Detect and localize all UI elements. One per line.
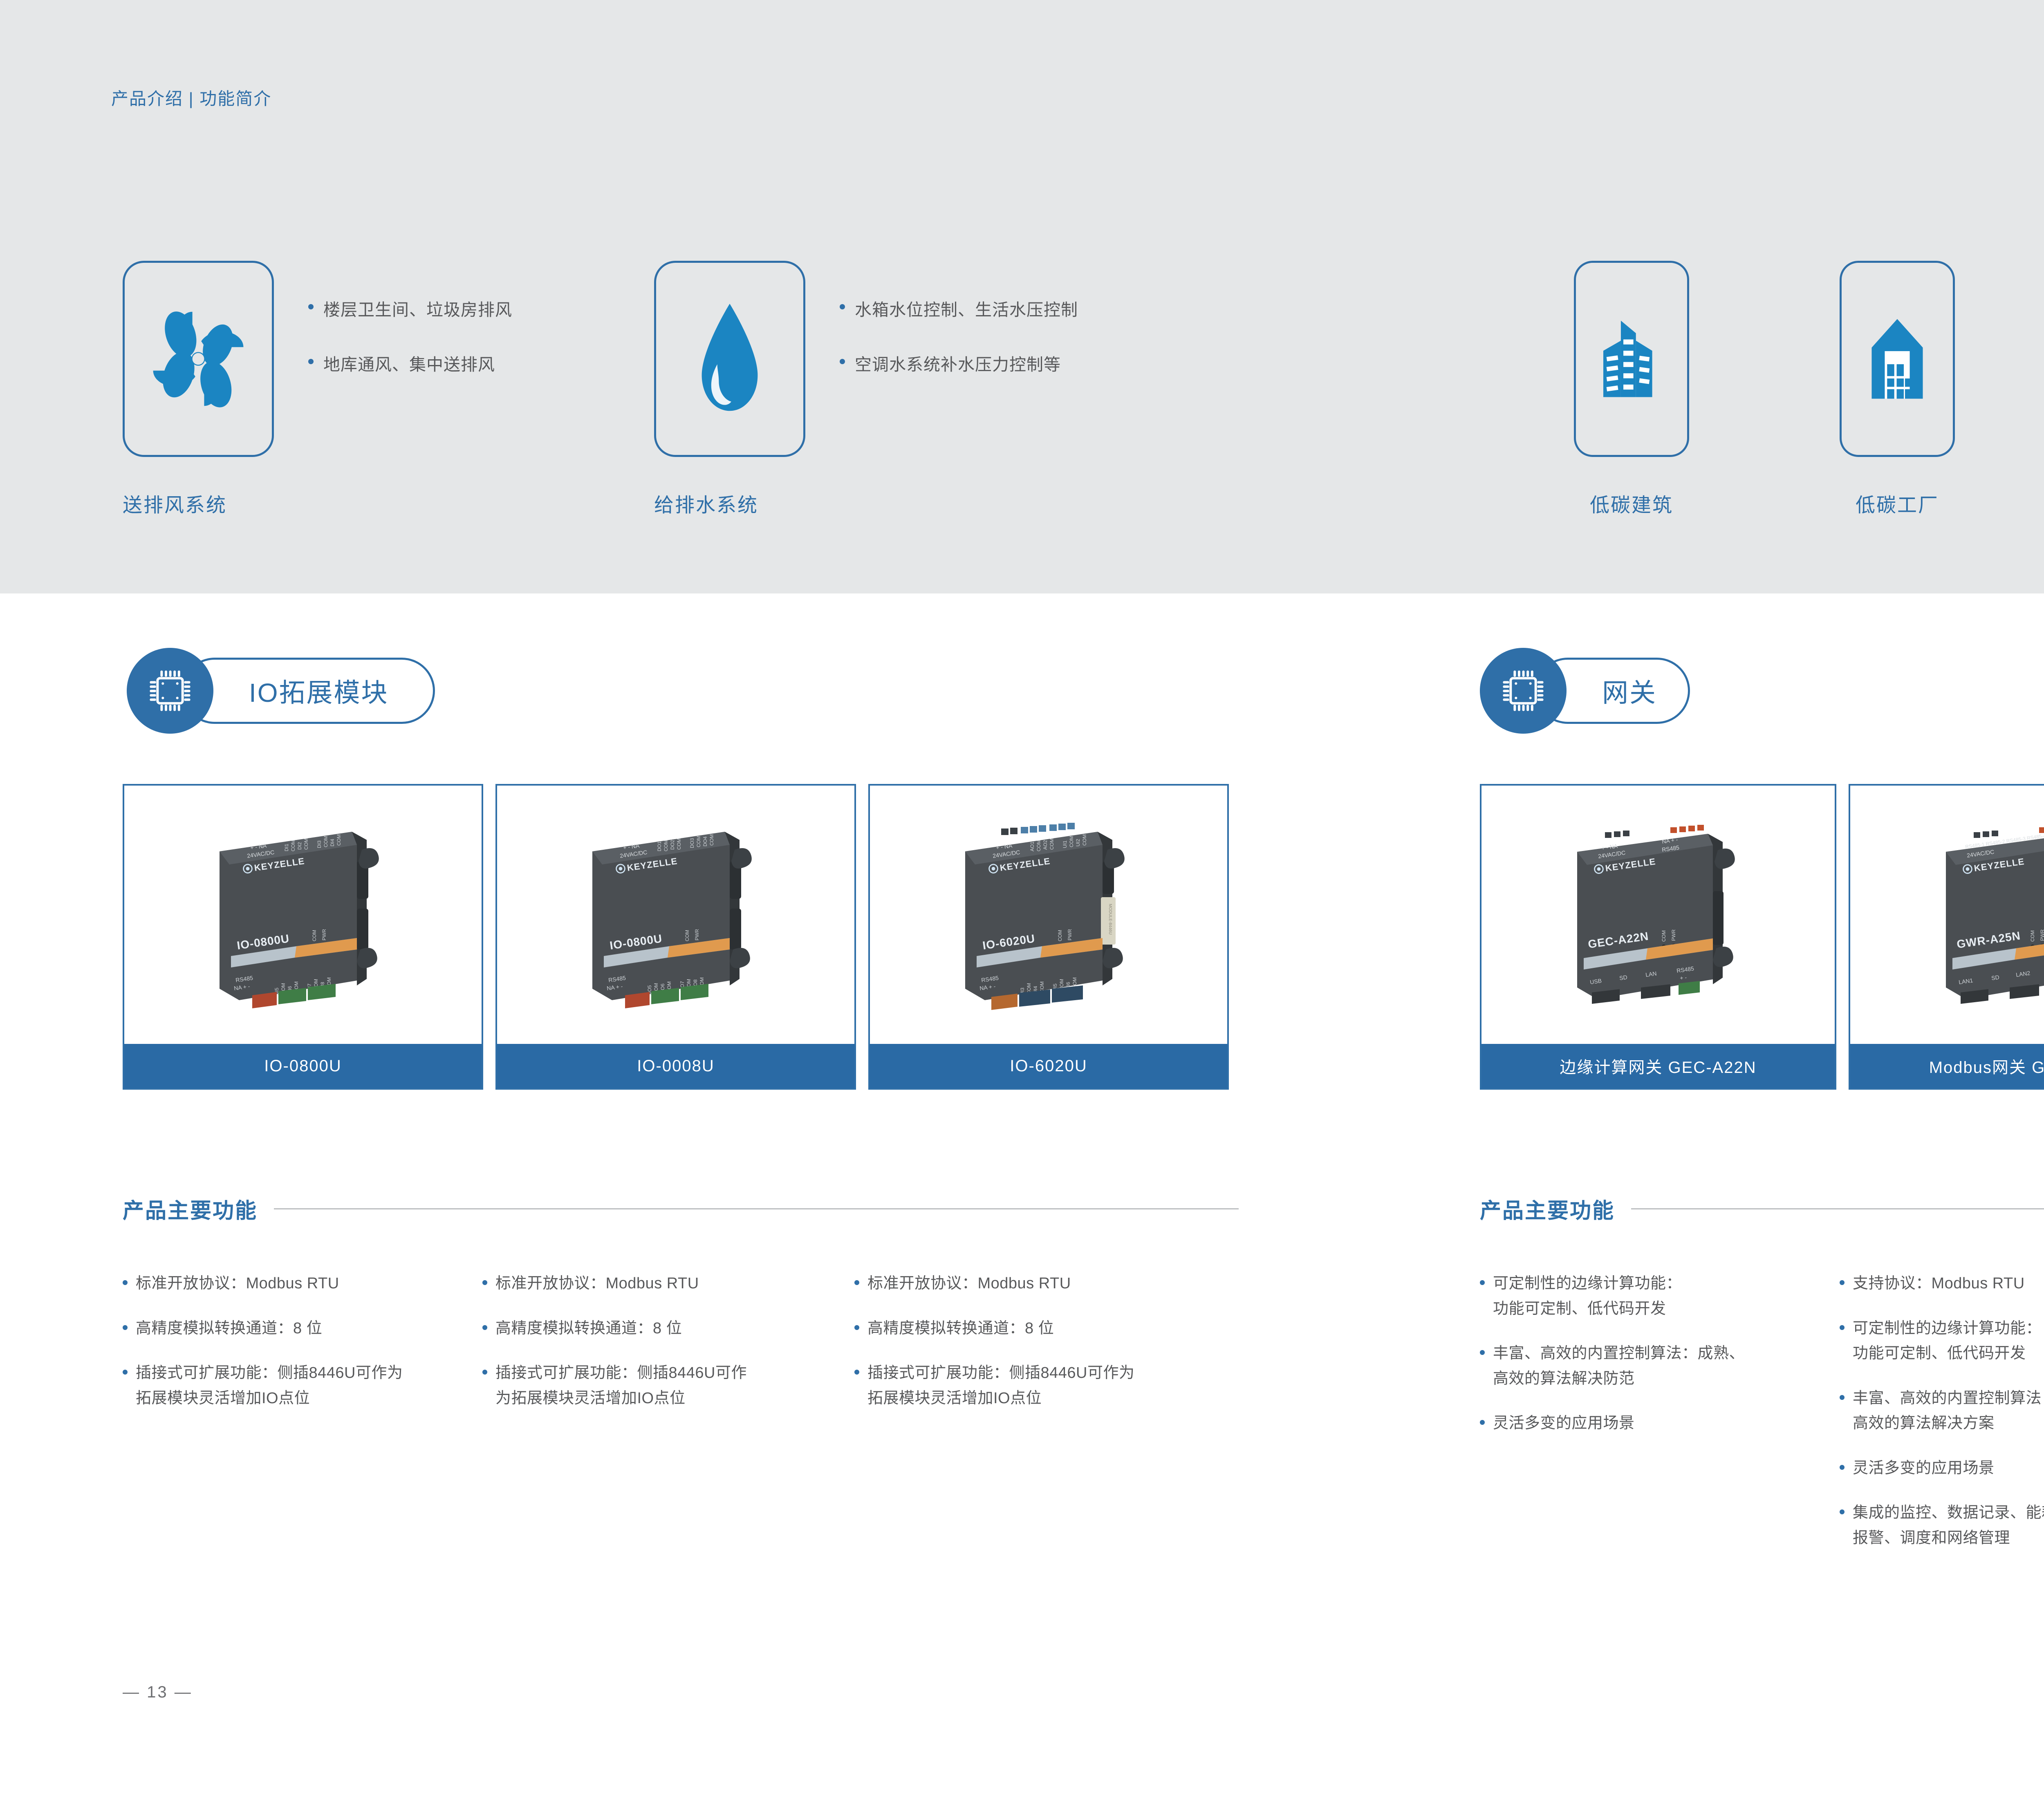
bullet-dot-icon (123, 1325, 128, 1330)
device-illustration: + - NA 24VAC/DC DO1 COM DO2 COM DO3 COM … (569, 819, 782, 1011)
feature-text: 插接式可扩展功能：侧插8446U可作为 拓展模块灵活增加IO点位 (867, 1361, 1134, 1411)
device-illustration: RS485-1 RS485-2 RS485-3 RS485-4 24VAC/DC… (1925, 821, 2044, 1009)
svg-text:COM: COM (696, 836, 702, 847)
feature-item: 丰富、高效的内置控制算法：成熟、 高效的算法解决方案 (1840, 1386, 2044, 1436)
feature-item: 支持协议：Modbus RTU (1840, 1271, 2044, 1296)
bullet-dot-icon (308, 304, 314, 309)
svg-text:UI1: UI1 (1062, 840, 1068, 848)
svg-text:DO3: DO3 (689, 838, 695, 848)
feature-text: 插接式可扩展功能：侧插8446U可作为 拓展模块灵活增加IO点位 (136, 1361, 403, 1411)
feature-text: 高精度模拟转换通道：8 位 (136, 1316, 322, 1341)
product-name: IO-6020U (870, 1044, 1227, 1088)
device-illustration: MODULE-8446U + - NA 24VAC/DC AO1 COM AO2… (942, 819, 1155, 1011)
bullet-dot-icon (1480, 1350, 1485, 1355)
svg-text:PWR: PWR (2040, 929, 2044, 941)
product-name: IO-0800U (124, 1044, 482, 1088)
section-badge-gateway: 网关 (1480, 648, 1741, 734)
section-pill-io: IO拓展模块 (182, 658, 435, 724)
fan-icon-frame (123, 261, 274, 457)
svg-text:COM: COM (1661, 930, 1667, 942)
bullet-text: 水箱水位控制、生活水压控制 (855, 296, 1078, 320)
device-illustration: + - NA 24VAC/DC NA + - RS485 KEYZELLE GE… (1556, 821, 1760, 1009)
feature-text: 丰富、高效的内置控制算法：成熟、 高效的算法解决防范 (1493, 1341, 1745, 1391)
feature-column: 可定制性的边缘计算功能： 功能可定制、低代码开发 丰富、高效的内置控制算法：成熟… (1480, 1271, 1840, 1570)
bullet-item: 地库通风、集中送排风 (308, 351, 512, 375)
svg-text:COM: COM (1036, 840, 1042, 851)
heading-rule (1631, 1208, 2044, 1209)
product-card[interactable]: RS485-1 RS485-2 RS485-3 RS485-4 24VAC/DC… (1849, 784, 2044, 1090)
chip-icon-circle (1480, 648, 1567, 734)
feature-text: 可定制性的边缘计算功能： 功能可定制、低代码开发 (1493, 1271, 1682, 1321)
feature-item: 高精度模拟转换通道：8 位 (854, 1316, 1214, 1341)
svg-text:COM: COM (1069, 836, 1074, 847)
feature-text: 集成的监控、数据记录、能耗计量、 报警、调度和网络管理 (1853, 1500, 2044, 1551)
features-heading-gateway: 产品主要功能 (1480, 1193, 2044, 1224)
svg-text:COM: COM (1049, 838, 1055, 850)
water-drop-icon (691, 300, 769, 418)
feature-text: 高精度模拟转换通道：8 位 (495, 1316, 682, 1341)
feature-item: 可定制性的边缘计算功能： 功能可定制、低代码开发 (1480, 1271, 1840, 1321)
bullet-dot-icon (854, 1280, 859, 1285)
scenario-water-supply: 水箱水位控制、生活水压控制 空调水系统补水压力控制等 给排水系统 (654, 261, 1078, 517)
svg-text:COM: COM (2030, 930, 2035, 942)
lowcarbon-title: 低碳建筑 (1590, 489, 1673, 517)
svg-text:PWR: PWR (321, 929, 327, 940)
feature-item: 插接式可扩展功能：侧插8446U可作为 拓展模块灵活增加IO点位 (123, 1361, 482, 1411)
svg-text:COM: COM (303, 838, 309, 850)
bullet-dot-icon (1840, 1509, 1845, 1514)
bullet-dot-icon (123, 1280, 128, 1285)
product-card[interactable]: + - NA 24VAC/DC NA + - RS485 KEYZELLE GE… (1480, 784, 1836, 1090)
bullet-dot-icon (854, 1370, 859, 1375)
svg-text:COM: COM (709, 834, 715, 846)
svg-text:COM: COM (312, 930, 317, 941)
feature-column: 支持协议：Modbus RTU 可定制性的边缘计算功能： 功能可定制、低代码开发… (1840, 1271, 2044, 1570)
bullet-dot-icon (1840, 1465, 1845, 1470)
product-name: 边缘计算网关 GEC-A22N (1481, 1044, 1835, 1088)
product-cards-io: + - NA 24VAC/DC DI1 COM DI2 COM DI3 COM … (123, 784, 1229, 1090)
feature-item: 高精度模拟转换通道：8 位 (482, 1316, 854, 1341)
svg-text:COM: COM (1057, 930, 1063, 941)
feature-item: 灵活多变的应用场景 (1840, 1456, 2044, 1481)
bullet-dot-icon (1840, 1325, 1845, 1330)
office-building-icon-frame (1574, 261, 1689, 457)
svg-text:PWR: PWR (1067, 929, 1073, 940)
scenario-ventilation-bullets: 楼层卫生间、垃圾房排风 地库通风、集中送排风 (308, 261, 512, 375)
catalog-page: 产品介绍 | 功能简介 产品介绍 | 功能简介 (0, 0, 2044, 1798)
bullet-dot-icon (308, 359, 314, 364)
bullet-dot-icon (1840, 1280, 1845, 1285)
feature-item: 可定制性的边缘计算功能： 功能可定制、低代码开发 (1840, 1316, 2044, 1366)
svg-text:COM: COM (676, 838, 682, 850)
feature-text: 标准开放协议：Modbus RTU (495, 1271, 699, 1296)
svg-text:DO4: DO4 (702, 836, 708, 846)
feature-text: 支持协议：Modbus RTU (1853, 1271, 2025, 1296)
bullet-item: 空调水系统补水压力控制等 (840, 351, 1078, 375)
feature-text: 标准开放协议：Modbus RTU (136, 1271, 339, 1296)
chip-icon-circle (127, 648, 213, 734)
svg-text:DO2: DO2 (670, 840, 675, 850)
product-name: IO-0008U (497, 1044, 854, 1088)
feature-text: 丰富、高效的内置控制算法：成熟、 高效的算法解决方案 (1853, 1386, 2044, 1436)
chip-icon (146, 667, 194, 715)
bullet-item: 水箱水位控制、生活水压控制 (840, 296, 1078, 320)
scenario-ventilation: 楼层卫生间、垃圾房排风 地库通风、集中送排风 送排风系统 (123, 261, 512, 517)
feature-text: 高精度模拟转换通道：8 位 (867, 1316, 1054, 1341)
device-illustration: + - NA 24VAC/DC DI1 COM DI2 COM DI3 COM … (197, 819, 409, 1011)
svg-text:DI1: DI1 (284, 844, 289, 851)
svg-text:DI3: DI3 (316, 840, 322, 848)
water-drop-icon-frame (654, 261, 805, 457)
bullet-dot-icon (1840, 1395, 1845, 1400)
factory-icon (1865, 312, 1930, 406)
scenario-title: 送排风系统 (123, 489, 512, 517)
feature-column: 标准开放协议：Modbus RTU 高精度模拟转换通道：8 位 插接式可扩展功能… (482, 1271, 854, 1431)
product-name: Modbus网关 GWR-A25N (1850, 1044, 2044, 1088)
svg-text:AO2: AO2 (1042, 840, 1048, 850)
features-heading-io: 产品主要功能 (123, 1193, 1239, 1224)
product-photo-io-0800u: + - NA 24VAC/DC DI1 COM DI2 COM DI3 COM … (124, 786, 482, 1044)
page-number-left: — 13 — (123, 1683, 193, 1702)
bullet-dot-icon (482, 1325, 487, 1330)
lowcarbon-building: 低碳建筑 (1574, 261, 1689, 517)
scenario-water-bullets: 水箱水位控制、生活水压控制 空调水系统补水压力控制等 (840, 261, 1078, 375)
feature-item: 标准开放协议：Modbus RTU (123, 1271, 482, 1296)
product-photo-io-6020u: MODULE-8446U + - NA 24VAC/DC AO1 COM AO2… (870, 786, 1227, 1044)
product-card[interactable]: MODULE-8446U + - NA 24VAC/DC AO1 COM AO2… (868, 784, 1229, 1090)
svg-text:DO1: DO1 (657, 841, 662, 851)
feature-columns-io: 标准开放协议：Modbus RTU 高精度模拟转换通道：8 位 插接式可扩展功能… (123, 1271, 1251, 1431)
features-heading-text: 产品主要功能 (1480, 1193, 1615, 1224)
feature-item: 高精度模拟转换通道：8 位 (123, 1316, 482, 1341)
svg-text:PWR: PWR (1671, 929, 1676, 941)
feature-text: 插接式可扩展功能：侧插8446U可作 为拓展模块灵活增加IO点位 (495, 1361, 747, 1411)
svg-text:COM: COM (323, 836, 329, 847)
feature-text: 灵活多变的应用场景 (1493, 1411, 1635, 1436)
bullet-dot-icon (1480, 1280, 1485, 1285)
feature-item: 插接式可扩展功能：侧插8446U可作 为拓展模块灵活增加IO点位 (482, 1361, 854, 1411)
feature-item: 丰富、高效的内置控制算法：成熟、 高效的算法解决防范 (1480, 1341, 1840, 1391)
feature-item: 灵活多变的应用场景 (1480, 1411, 1840, 1436)
feature-columns-gateway: 可定制性的边缘计算功能： 功能可定制、低代码开发 丰富、高效的内置控制算法：成熟… (1480, 1271, 2044, 1570)
feature-item: 插接式可扩展功能：侧插8446U可作为 拓展模块灵活增加IO点位 (854, 1361, 1214, 1411)
feature-text: 灵活多变的应用场景 (1853, 1456, 1995, 1481)
bullet-dot-icon (854, 1325, 859, 1330)
bullet-dot-icon (482, 1370, 487, 1375)
svg-text:SD: SD (1991, 974, 1999, 981)
product-card[interactable]: + - NA 24VAC/DC DO1 COM DO2 COM DO3 COM … (495, 784, 856, 1090)
office-building-icon (1597, 312, 1666, 406)
svg-text:DI4: DI4 (329, 839, 335, 846)
svg-text:COM: COM (336, 834, 342, 846)
bullet-item: 楼层卫生间、垃圾房排风 (308, 296, 512, 320)
feature-text: 可定制性的边缘计算功能： 功能可定制、低代码开发 (1853, 1316, 2042, 1366)
svg-text:UI2: UI2 (1075, 839, 1081, 846)
svg-text:PWR: PWR (694, 929, 700, 940)
svg-text:COM: COM (684, 930, 690, 941)
scenario-title: 给排水系统 (654, 489, 1078, 517)
product-photo-gwr-a25n: RS485-1 RS485-2 RS485-3 RS485-4 24VAC/DC… (1850, 786, 2044, 1044)
bullet-dot-icon (1480, 1420, 1485, 1425)
bullet-dot-icon (123, 1370, 128, 1375)
product-card[interactable]: + - NA 24VAC/DC DI1 COM DI2 COM DI3 COM … (123, 784, 483, 1090)
feature-column: 标准开放协议：Modbus RTU 高精度模拟转换通道：8 位 插接式可扩展功能… (854, 1271, 1214, 1431)
feature-item: 集成的监控、数据记录、能耗计量、 报警、调度和网络管理 (1840, 1500, 2044, 1551)
section-badge-label: 网关 (1602, 672, 1657, 710)
svg-text:SD: SD (1619, 974, 1627, 981)
product-photo-io-0008u: + - NA 24VAC/DC DO1 COM DO2 COM DO3 COM … (497, 786, 854, 1044)
feature-column: 标准开放协议：Modbus RTU 高精度模拟转换通道：8 位 插接式可扩展功能… (123, 1271, 482, 1431)
svg-text:COM: COM (290, 840, 296, 851)
section-badge-io: IO拓展模块 (127, 648, 437, 734)
svg-text:COM: COM (663, 840, 669, 851)
product-cards-gateway: + - NA 24VAC/DC NA + - RS485 KEYZELLE GE… (1480, 784, 2044, 1090)
svg-text:COM: COM (1082, 834, 1087, 846)
bullet-text: 楼层卫生间、垃圾房排风 (323, 296, 512, 320)
heading-rule (274, 1208, 1239, 1209)
chip-icon (1499, 667, 1547, 715)
feature-item: 标准开放协议：Modbus RTU (482, 1271, 854, 1296)
bullet-dot-icon (482, 1280, 487, 1285)
section-badge-label: IO拓展模块 (249, 672, 389, 710)
running-head-left: 产品介绍 | 功能简介 (111, 85, 271, 110)
svg-text:AO1: AO1 (1029, 842, 1035, 851)
svg-text:MODULE-8446U: MODULE-8446U (1108, 904, 1112, 935)
bullet-dot-icon (840, 304, 845, 309)
fan-icon (149, 308, 247, 410)
lowcarbon-title: 低碳工厂 (1856, 489, 1939, 517)
bullet-text: 空调水系统补水压力控制等 (855, 351, 1061, 375)
lowcarbon-factory: 低碳工厂 (1840, 261, 1955, 517)
feature-text: 标准开放协议：Modbus RTU (867, 1271, 1071, 1296)
features-heading-text: 产品主要功能 (123, 1193, 258, 1224)
feature-item: 标准开放协议：Modbus RTU (854, 1271, 1214, 1296)
svg-text:DI2: DI2 (297, 842, 303, 850)
product-photo-gec-a22n: + - NA 24VAC/DC NA + - RS485 KEYZELLE GE… (1481, 786, 1835, 1044)
bullet-text: 地库通风、集中送排风 (323, 351, 495, 375)
bullet-dot-icon (840, 359, 845, 364)
factory-icon-frame (1840, 261, 1955, 457)
svg-text:+ -: + - (1679, 974, 1687, 981)
